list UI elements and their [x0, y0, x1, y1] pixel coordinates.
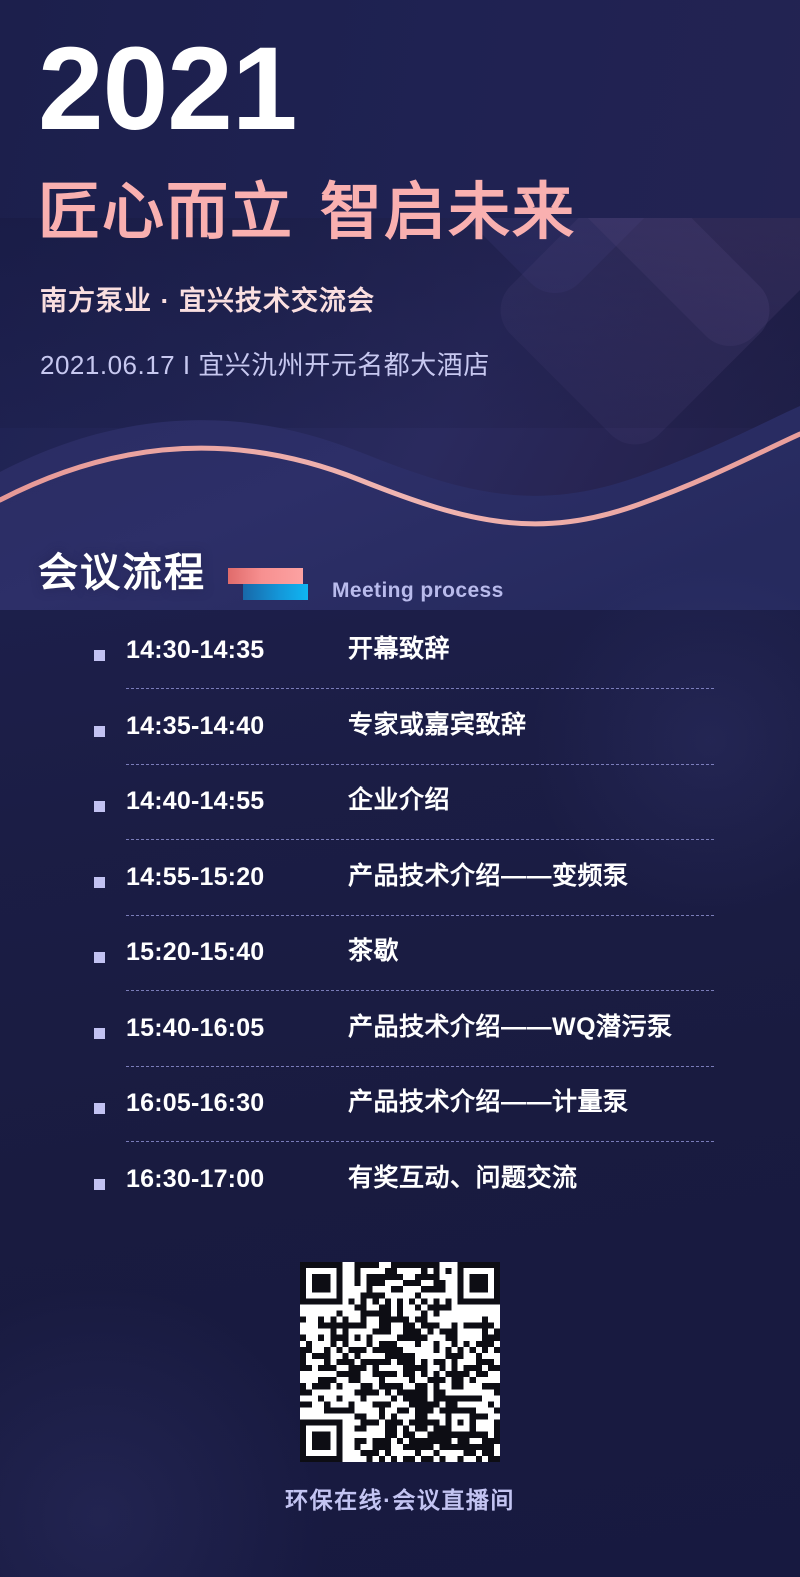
schedule-time: 14:30-14:35: [126, 638, 264, 663]
poster-year: 2021: [38, 30, 297, 148]
schedule-row: 15:40-16:05产品技术介绍——WQ潜污泵: [0, 1004, 800, 1080]
schedule-topic: 开幕致辞: [348, 637, 450, 662]
square-bullet-icon: [94, 1179, 105, 1190]
schedule-divider: [126, 839, 714, 840]
square-bullet-icon: [94, 1028, 105, 1039]
qr-code-icon[interactable]: [300, 1262, 500, 1462]
schedule-time: 16:05-16:30: [126, 1091, 264, 1116]
poster-datetime-venue: 2021.06.17 I 宜兴氿州开元名都大酒店: [40, 352, 490, 378]
schedule-time: 15:40-16:05: [126, 1016, 264, 1041]
schedule-time: 15:20-15:40: [126, 940, 264, 965]
slogan-part-left: 匠心而立: [38, 178, 294, 247]
square-bullet-icon: [94, 1103, 105, 1114]
schedule-topic: 企业介绍: [348, 788, 450, 813]
schedule-divider: [126, 688, 714, 689]
schedule-row: 16:05-16:30产品技术介绍——计量泵: [0, 1079, 800, 1155]
schedule-time: 16:30-17:00: [126, 1167, 264, 1192]
square-bullet-icon: [94, 801, 105, 812]
square-bullet-icon: [94, 650, 105, 661]
schedule-row: 14:40-14:55企业介绍: [0, 777, 800, 853]
schedule-topic: 茶歇: [348, 939, 399, 964]
schedule-divider: [126, 1141, 714, 1142]
poster-organizer: 南方泵业 · 宜兴技术交流会: [40, 288, 375, 315]
schedule-time: 14:40-14:55: [126, 789, 264, 814]
schedule-divider: [126, 1066, 714, 1067]
schedule-list: 14:30-14:35开幕致辞14:35-14:40专家或嘉宾致辞14:40-1…: [0, 626, 800, 1230]
schedule-topic: 专家或嘉宾致辞: [348, 713, 527, 738]
schedule-topic: 产品技术介绍——变频泵: [348, 864, 629, 889]
schedule-divider: [126, 764, 714, 765]
slogan-part-right: 智启未来: [320, 178, 576, 247]
square-bullet-icon: [94, 726, 105, 737]
schedule-topic: 有奖互动、问题交流: [348, 1166, 578, 1191]
event-poster: 2021 匠心而立智启未来 南方泵业 · 宜兴技术交流会 2021.06.17 …: [0, 0, 800, 1577]
schedule-topic: 产品技术介绍——计量泵: [348, 1090, 629, 1115]
schedule-row: 15:20-15:40茶歇: [0, 928, 800, 1004]
section-heading: 会议流程 Meeting process: [0, 546, 800, 608]
section-title: 会议流程: [38, 548, 206, 598]
schedule-divider: [126, 990, 714, 991]
schedule-row: 14:30-14:35开幕致辞: [0, 626, 800, 702]
schedule-divider: [126, 915, 714, 916]
poster-slogan: 匠心而立智启未来: [38, 182, 576, 244]
square-bullet-icon: [94, 952, 105, 963]
schedule-topic: 产品技术介绍——WQ潜污泵: [348, 1015, 673, 1040]
schedule-row: 14:35-14:40专家或嘉宾致辞: [0, 702, 800, 778]
decor-bar-cyan: [243, 584, 308, 600]
square-bullet-icon: [94, 877, 105, 888]
schedule-row: 14:55-15:20产品技术介绍——变频泵: [0, 853, 800, 929]
schedule-row: 16:30-17:00有奖互动、问题交流: [0, 1155, 800, 1231]
schedule-time: 14:35-14:40: [126, 714, 264, 739]
section-subtitle: Meeting process: [332, 580, 504, 601]
schedule-time: 14:55-15:20: [126, 865, 264, 890]
decor-bar-pink: [228, 568, 303, 584]
livestream-label: 环保在线·会议直播间: [0, 1489, 800, 1512]
